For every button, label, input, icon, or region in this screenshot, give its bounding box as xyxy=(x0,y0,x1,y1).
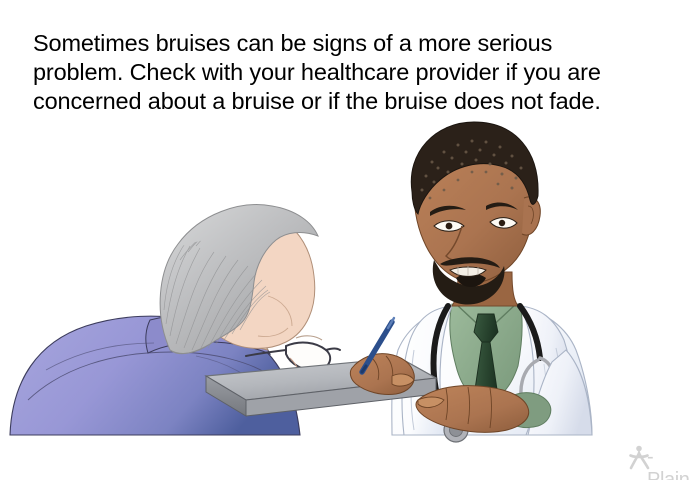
x-plain-logo-text: -Plain xyxy=(647,446,693,480)
illustration xyxy=(0,100,700,445)
page-root: Sometimes bruises can be signs of a more… xyxy=(0,0,700,480)
x-plain-logo: -Plain xyxy=(627,444,693,472)
patient-brow xyxy=(296,336,322,340)
